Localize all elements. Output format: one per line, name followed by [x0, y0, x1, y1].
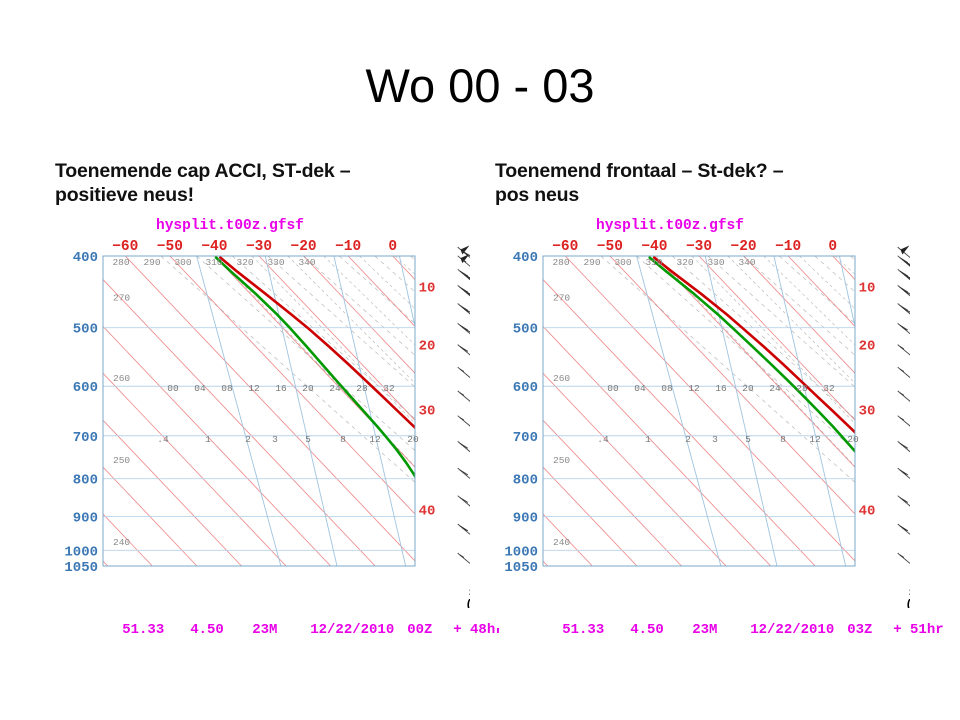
footer-date-left: 12/22/2010: [310, 622, 407, 638]
footer-cycle-left: 00Z: [407, 622, 453, 638]
svg-text:270: 270: [553, 292, 570, 303]
svg-text:600: 600: [513, 380, 538, 396]
svg-text:12: 12: [248, 382, 260, 393]
footer-lat-right: 51.33: [562, 622, 630, 638]
svg-text:400: 400: [513, 250, 538, 266]
svg-text:400: 400: [73, 250, 98, 266]
svg-text:−50: −50: [597, 239, 623, 255]
skewt-chart-right: hysplit.t00z.gfsf −60−50−40−30−20−100280…: [495, 218, 910, 628]
svg-text:30: 30: [419, 403, 436, 419]
svg-text:330: 330: [707, 257, 724, 268]
svg-text:20: 20: [742, 382, 754, 393]
svg-text:700: 700: [513, 429, 538, 445]
svg-text:1050: 1050: [64, 560, 98, 576]
panel-right: Toenemend frontaal – St-dek? – pos neus …: [495, 160, 930, 628]
svg-text:800: 800: [513, 472, 538, 488]
footer-elev-left: 23M: [252, 622, 310, 638]
svg-text:20: 20: [859, 338, 876, 354]
footer-date-right: 12/22/2010: [750, 622, 847, 638]
svg-text:10: 10: [419, 280, 436, 296]
svg-text:3: 3: [712, 434, 718, 445]
svg-text:30: 30: [859, 403, 876, 419]
svg-text:20: 20: [419, 338, 436, 354]
panel-right-caption: Toenemend frontaal – St-dek? – pos neus: [495, 160, 895, 208]
svg-text:20: 20: [407, 434, 419, 445]
svg-text:310: 310: [205, 257, 222, 268]
svg-text:800: 800: [73, 472, 98, 488]
footer-elev-right: 23M: [692, 622, 750, 638]
slide: Wo 00 - 03 Toenemende cap ACCI, ST-dek –…: [0, 0, 960, 720]
footer-lat-left: 51.33: [122, 622, 190, 638]
svg-text:16: 16: [275, 382, 287, 393]
svg-text:−60: −60: [112, 239, 138, 255]
svg-text:−30: −30: [686, 239, 712, 255]
svg-text:40: 40: [859, 503, 876, 519]
svg-text:500: 500: [513, 321, 538, 337]
svg-text:32: 32: [823, 382, 835, 393]
svg-text:500: 500: [73, 321, 98, 337]
svg-text:280: 280: [112, 257, 129, 268]
svg-text:1: 1: [205, 434, 211, 445]
svg-text:1: 1: [645, 434, 651, 445]
chart-footer-left: 51.334.5023M12/22/201000Z+ 48hr: [55, 606, 470, 654]
caption-line-2: positieve neus!: [55, 184, 455, 208]
svg-text:260: 260: [553, 373, 570, 384]
skewt-svg-right: −60−50−40−30−20−100280290300310320330340…: [495, 218, 910, 608]
svg-text:280: 280: [552, 257, 569, 268]
svg-text:12: 12: [369, 434, 381, 445]
svg-text:−50: −50: [157, 239, 183, 255]
footer-forecast-right: + 51hr: [893, 622, 943, 638]
svg-text:1000: 1000: [64, 544, 98, 560]
svg-text:−30: −30: [246, 239, 272, 255]
footer-lon-right: 4.50: [630, 622, 692, 638]
svg-text:16: 16: [715, 382, 727, 393]
svg-text:300: 300: [614, 257, 631, 268]
svg-text:250: 250: [553, 455, 570, 466]
svg-text:5: 5: [305, 434, 311, 445]
svg-text:20: 20: [847, 434, 859, 445]
svg-text:8: 8: [340, 434, 346, 445]
svg-text:2: 2: [685, 434, 691, 445]
svg-text:28: 28: [796, 382, 808, 393]
svg-text:900: 900: [73, 510, 98, 526]
caption-line-2: pos neus: [495, 184, 895, 208]
svg-text:340: 340: [298, 257, 315, 268]
skewt-chart-left: hysplit.t00z.gfsf −60−50−40−30−20−100280…: [55, 218, 470, 628]
svg-text:310: 310: [645, 257, 662, 268]
svg-text:1000: 1000: [504, 544, 538, 560]
svg-text:08: 08: [221, 382, 233, 393]
svg-text:1050: 1050: [504, 560, 538, 576]
skewt-svg-left: −60−50−40−30−20−100280290300310320330340…: [55, 218, 470, 608]
svg-text:0: 0: [388, 239, 397, 255]
svg-text:240: 240: [113, 537, 130, 548]
svg-text:10: 10: [859, 280, 876, 296]
svg-text:28: 28: [356, 382, 368, 393]
svg-text:600: 600: [73, 380, 98, 396]
svg-text:0: 0: [828, 239, 837, 255]
svg-text:40: 40: [419, 503, 436, 519]
svg-text:.4: .4: [157, 434, 169, 445]
svg-text:290: 290: [583, 257, 600, 268]
svg-text:00: 00: [167, 382, 179, 393]
svg-text:−40: −40: [201, 239, 227, 255]
svg-text:3: 3: [272, 434, 278, 445]
svg-text:−20: −20: [731, 239, 757, 255]
svg-text:−60: −60: [552, 239, 578, 255]
svg-text:320: 320: [236, 257, 253, 268]
svg-text:12: 12: [809, 434, 821, 445]
footer-lon-left: 4.50: [190, 622, 252, 638]
caption-line-1: Toenemende cap ACCI, ST-dek –: [55, 160, 455, 184]
svg-text:20: 20: [302, 382, 314, 393]
svg-text:24: 24: [769, 382, 781, 393]
svg-text:04: 04: [194, 382, 206, 393]
svg-text:32: 32: [383, 382, 395, 393]
svg-text:8: 8: [780, 434, 786, 445]
svg-text:5: 5: [745, 434, 751, 445]
svg-text:250: 250: [113, 455, 130, 466]
svg-text:320: 320: [676, 257, 693, 268]
chart-footer-right: 51.334.5023M12/22/201003Z+ 51hr: [495, 606, 910, 654]
svg-text:300: 300: [174, 257, 191, 268]
svg-text:08: 08: [661, 382, 673, 393]
svg-text:−10: −10: [335, 239, 361, 255]
svg-text:−10: −10: [775, 239, 801, 255]
svg-text:340: 340: [738, 257, 755, 268]
caption-line-1: Toenemend frontaal – St-dek? –: [495, 160, 895, 184]
svg-text:−40: −40: [641, 239, 667, 255]
svg-text:270: 270: [113, 292, 130, 303]
svg-text:330: 330: [267, 257, 284, 268]
svg-text:−20: −20: [291, 239, 317, 255]
footer-cycle-right: 03Z: [847, 622, 893, 638]
svg-text:260: 260: [113, 373, 130, 384]
page-title: Wo 00 - 03: [0, 58, 960, 113]
svg-text:2: 2: [245, 434, 251, 445]
svg-text:.4: .4: [597, 434, 609, 445]
svg-text:00: 00: [607, 382, 619, 393]
svg-text:04: 04: [634, 382, 646, 393]
svg-text:900: 900: [513, 510, 538, 526]
panel-left-caption: Toenemende cap ACCI, ST-dek – positieve …: [55, 160, 455, 208]
svg-text:700: 700: [73, 429, 98, 445]
svg-text:12: 12: [688, 382, 700, 393]
svg-text:290: 290: [143, 257, 160, 268]
svg-text:240: 240: [553, 537, 570, 548]
svg-text:24: 24: [329, 382, 341, 393]
panel-left: Toenemende cap ACCI, ST-dek – positieve …: [55, 160, 490, 628]
